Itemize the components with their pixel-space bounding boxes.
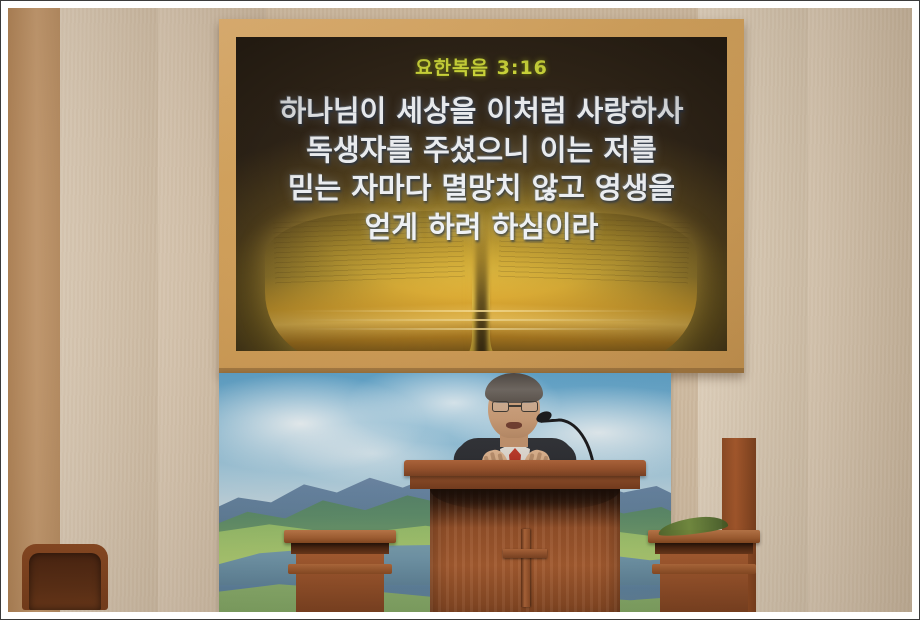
- pedestal-shaft: [296, 554, 384, 612]
- pulpit-front-panel: [430, 489, 620, 612]
- cross-emblem-icon: [503, 529, 547, 607]
- glasses-lens-left: [492, 401, 509, 412]
- scripture-line-2: 독생자를 주셨으니 이는 저를: [306, 131, 656, 170]
- scripture-line-3: 믿는 자마다 멸망치 않고 영생을: [288, 169, 675, 208]
- pedestal-shaft: [660, 554, 748, 612]
- slide-text-block: 요한복음 3:16 하나님이 세상을 이처럼 사랑하사 독생자를 주셨으니 이는…: [236, 37, 727, 351]
- scripture-line-4: 얻게 하려 하심이라: [365, 208, 599, 247]
- speaker-glasses: [492, 401, 538, 412]
- pedestal-neck: [655, 543, 753, 554]
- pedestal-cap: [284, 530, 396, 543]
- chair-back: [22, 544, 108, 610]
- pulpit-rail: [410, 476, 640, 489]
- pulpit-top-surface: [404, 460, 646, 476]
- cross-vertical: [521, 529, 530, 607]
- speaker-hair: [485, 373, 543, 403]
- pedestal-band: [652, 564, 756, 574]
- glasses-lens-right: [521, 401, 538, 412]
- pedestal-neck: [291, 543, 389, 554]
- glasses-bridge: [509, 405, 521, 407]
- scripture-reference: 요한복음 3:16: [415, 53, 548, 80]
- pedestal-right: [648, 530, 760, 612]
- pedestal-left: [284, 530, 396, 612]
- pedestal-band: [288, 564, 392, 574]
- wall-column-left: [8, 8, 60, 612]
- chair-back-panel: [29, 553, 101, 610]
- photo-border: 요한복음 3:16 하나님이 세상을 이처럼 사랑하사 독생자를 주셨으니 이는…: [0, 0, 920, 620]
- sanctuary-photo: 요한복음 3:16 하나님이 세상을 이처럼 사랑하사 독생자를 주셨으니 이는…: [8, 8, 912, 612]
- projection-screen-frame: 요한복음 3:16 하나님이 세상을 이처럼 사랑하사 독생자를 주셨으니 이는…: [219, 19, 744, 373]
- pulpit: [412, 460, 638, 612]
- speaker-mouth: [506, 422, 522, 429]
- wooden-chair: [22, 544, 118, 612]
- scripture-line-1: 하나님이 세상을 이처럼 사랑하사: [280, 92, 684, 131]
- cross-horizontal: [503, 549, 547, 558]
- projection-screen: 요한복음 3:16 하나님이 세상을 이처럼 사랑하사 독생자를 주셨으니 이는…: [236, 37, 727, 351]
